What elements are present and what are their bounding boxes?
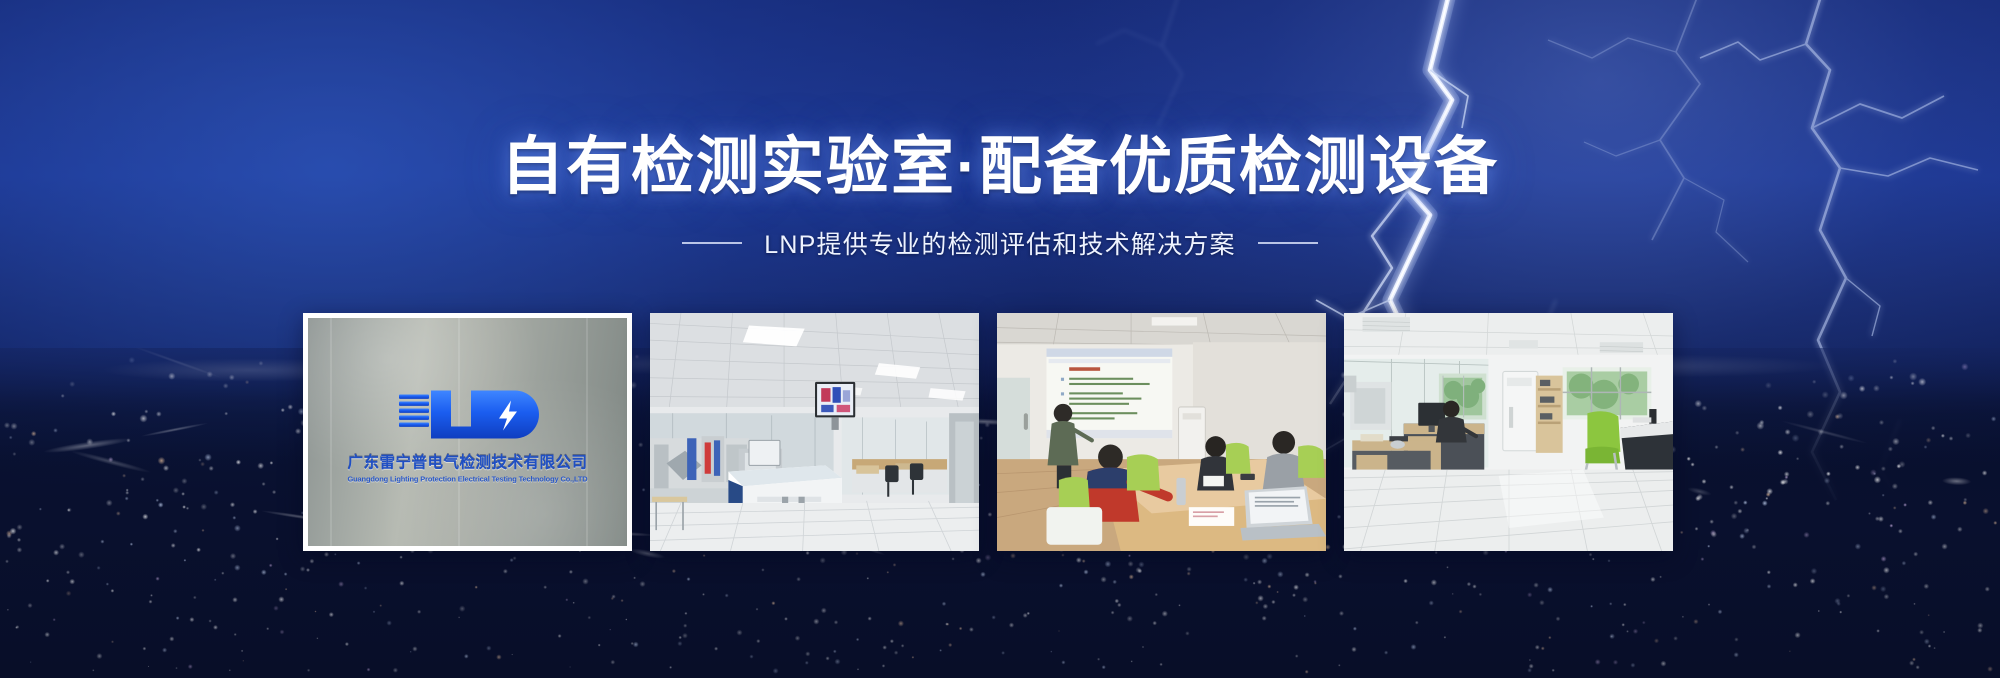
office-photo [1344,313,1673,551]
company-name-cn: 广东雷宁普电气检测技术有限公司 [308,451,627,473]
meeting-room-photo [997,313,1326,551]
page-title: 自有检测实验室·配备优质检测设备 [0,136,2000,199]
company-sign-photo: 广东雷宁普电气检测技术有限公司 Guangdong Lighting Prote… [308,318,627,546]
banner-subtitle: LNP提供专业的检测评估和技术解决方案 [764,225,1235,261]
gallery-card-company-sign[interactable]: 广东雷宁普电气检测技术有限公司 Guangdong Lighting Prote… [303,313,632,551]
rule-left-icon [682,242,742,244]
sign-content: 广东雷宁普电气检测技术有限公司 Guangdong Lighting Prote… [308,381,627,484]
company-name-en: Guangdong Lighting Protection Electrical… [308,475,627,484]
gallery-card-laboratory[interactable] [650,313,979,551]
gallery-card-office[interactable] [1344,313,1673,551]
banner-subtitle-row: LNP提供专业的检测评估和技术解决方案 [0,225,2000,261]
laboratory-photo [650,313,979,551]
hero-banner: 自有检测实验室·配备优质检测设备 LNP提供专业的检测评估和技术解决方案 [0,0,2000,678]
photo-gallery: 广东雷宁普电气检测技术有限公司 Guangdong Lighting Prote… [303,313,1703,551]
gallery-card-meeting-room[interactable] [997,313,1326,551]
lnp-logo-icon [393,381,543,447]
banner-copy: 自有检测实验室·配备优质检测设备 LNP提供专业的检测评估和技术解决方案 [0,0,2000,261]
rule-right-icon [1258,242,1318,244]
